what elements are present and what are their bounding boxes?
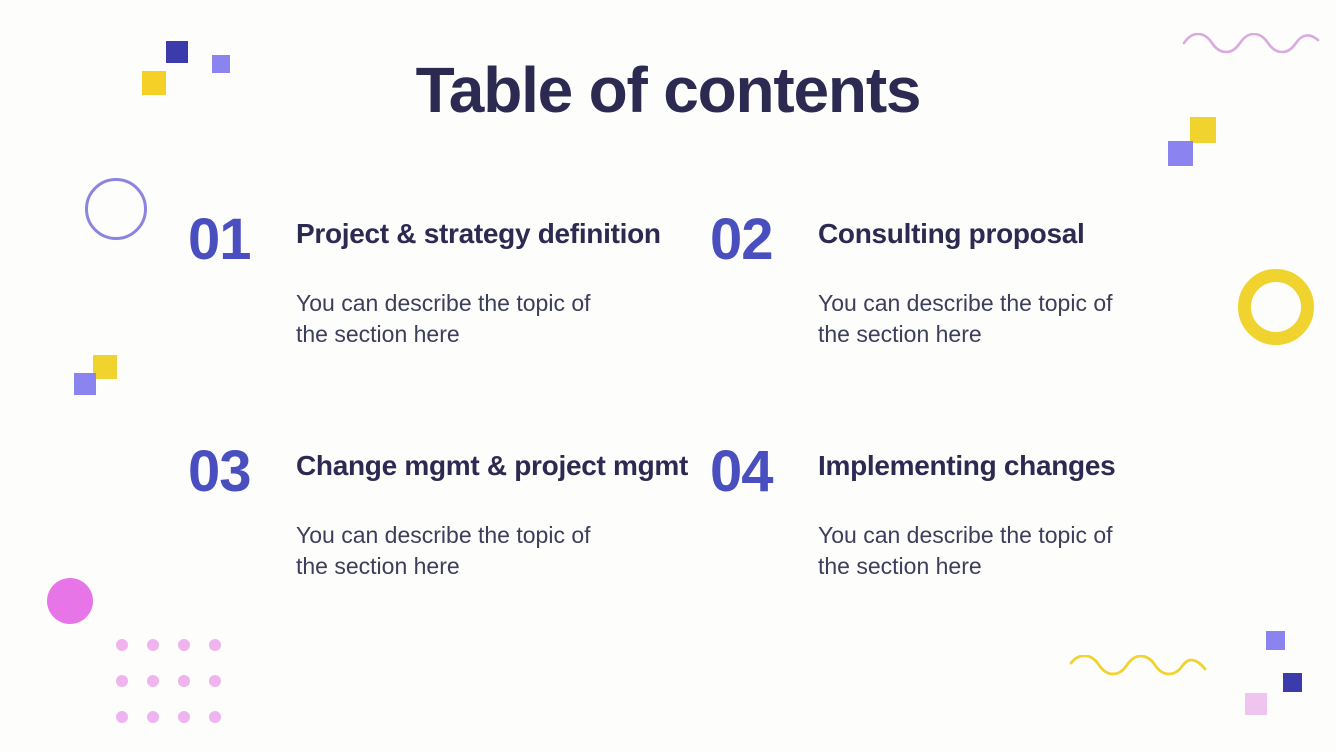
toc-item-03-number: 03 <box>188 444 296 501</box>
toc-item-01-heading: Project & strategy definition <box>296 212 661 252</box>
square-light-purple-top-right-icon <box>1168 141 1193 166</box>
table-of-contents-slide: Table of contents 01 Project & strategy … <box>0 0 1336 752</box>
toc-item-04-head: 04 Implementing changes <box>710 444 1188 501</box>
toc-item-03[interactable]: 03 Change mgmt & project mgmt You can de… <box>188 444 710 582</box>
page-title: Table of contents <box>0 57 1336 124</box>
toc-item-04-description: You can describe the topic of the sectio… <box>818 520 1148 582</box>
square-yellow-mid-left-icon <box>93 355 117 379</box>
toc-item-03-head: 03 Change mgmt & project mgmt <box>188 444 710 501</box>
circle-orchid-bottom-left-icon <box>47 578 93 624</box>
toc-grid: 01 Project & strategy definition You can… <box>188 212 1188 582</box>
toc-item-02-description: You can describe the topic of the sectio… <box>818 288 1148 350</box>
square-light-purple-bottom-right-icon <box>1266 631 1285 650</box>
toc-item-01-head: 01 Project & strategy definition <box>188 212 710 269</box>
toc-item-02-number: 02 <box>710 212 818 269</box>
square-deep-blue-bottom-right-icon <box>1283 673 1302 692</box>
toc-item-01-number: 01 <box>188 212 296 269</box>
toc-item-02-head: 02 Consulting proposal <box>710 212 1188 269</box>
toc-item-03-description: You can describe the topic of the sectio… <box>296 520 626 582</box>
ring-yellow-right-icon <box>1238 269 1314 345</box>
toc-item-04-number: 04 <box>710 444 818 501</box>
square-light-purple-mid-left-icon <box>74 373 96 395</box>
toc-item-02-heading: Consulting proposal <box>818 212 1085 252</box>
toc-item-04[interactable]: 04 Implementing changes You can describe… <box>710 444 1188 582</box>
toc-item-01[interactable]: 01 Project & strategy definition You can… <box>188 212 710 444</box>
wave-yellow-bottom-right-icon <box>1069 655 1209 689</box>
toc-item-01-description: You can describe the topic of the sectio… <box>296 288 626 350</box>
toc-item-02[interactable]: 02 Consulting proposal You can describe … <box>710 212 1188 444</box>
square-pale-pink-bottom-right-icon <box>1245 693 1267 715</box>
toc-item-04-heading: Implementing changes <box>818 444 1115 484</box>
toc-item-03-heading: Change mgmt & project mgmt <box>296 444 688 484</box>
circle-outline-purple-left-icon <box>85 178 147 240</box>
